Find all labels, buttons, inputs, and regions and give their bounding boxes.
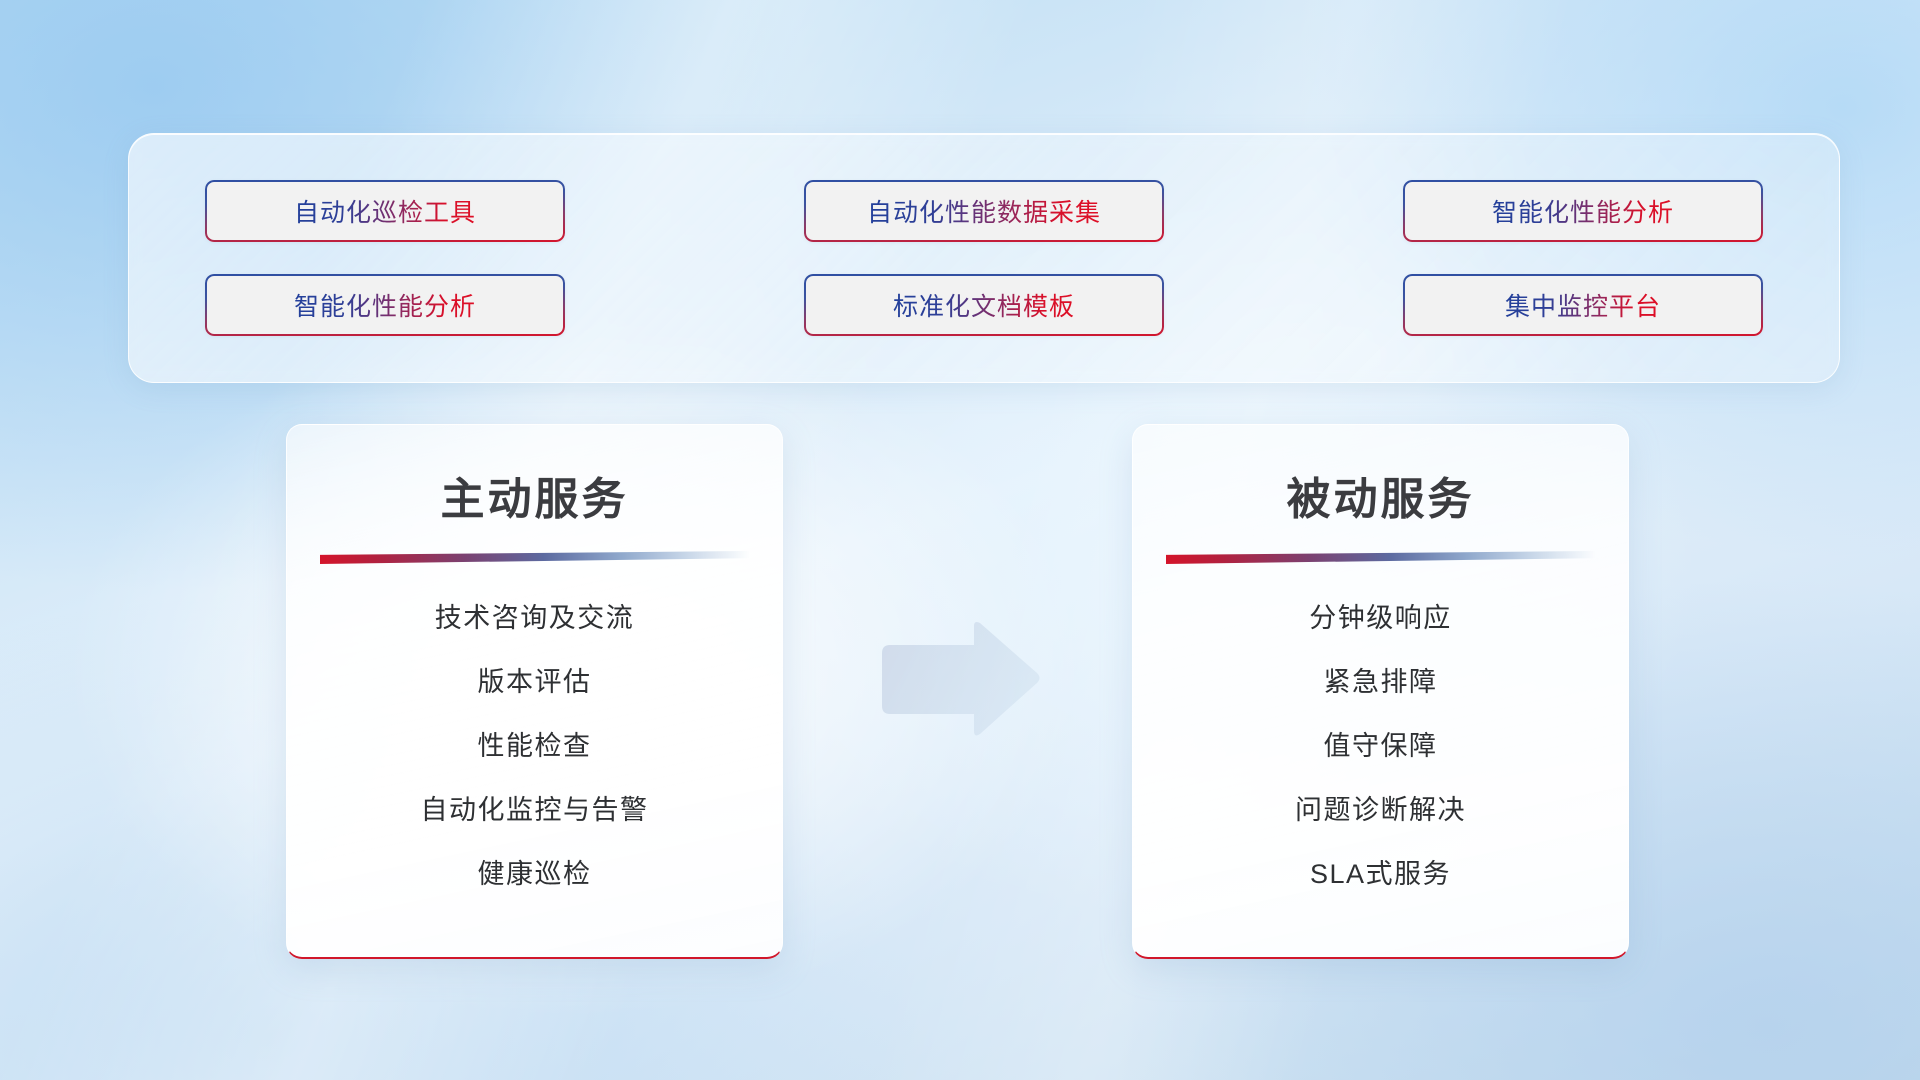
- tag-button-standardized-document-template[interactable]: 标准化文档模板: [804, 274, 1164, 336]
- card-title: 主动服务: [441, 463, 629, 527]
- list-item: 问题诊断解决: [1295, 788, 1466, 827]
- tag-button-label: 集中监控平台: [1505, 287, 1661, 323]
- tag-row-1: 自动化巡检工具 自动化性能数据采集 智能化性能分析: [205, 180, 1763, 242]
- list-item: 自动化监控与告警: [421, 788, 649, 827]
- tag-button-centralized-monitoring-platform[interactable]: 集中监控平台: [1403, 274, 1763, 336]
- capability-tag-panel: 自动化巡检工具 自动化性能数据采集 智能化性能分析 智能化性能分析 标准化文档模…: [128, 133, 1840, 383]
- card-item-list: 分钟级响应 紧急排障 值守保障 问题诊断解决 SLA式服务: [1133, 596, 1628, 891]
- list-item: 紧急排障: [1324, 660, 1438, 699]
- list-item: SLA式服务: [1310, 852, 1451, 891]
- arrow-right-icon: [874, 620, 1042, 740]
- service-card-reactive[interactable]: 被动服务 分钟级响应 紧急排障 值守保障 问题诊断解决 SLA式服务: [1132, 424, 1629, 959]
- tag-row-2: 智能化性能分析 标准化文档模板 集中监控平台: [205, 274, 1763, 336]
- tag-button-label: 智能化性能分析: [294, 287, 476, 323]
- tag-button-intelligent-performance-analysis-2[interactable]: 智能化性能分析: [205, 274, 565, 336]
- tag-button-label: 自动化性能数据采集: [867, 193, 1101, 229]
- tag-button-automated-inspection-tool[interactable]: 自动化巡检工具: [205, 180, 565, 242]
- list-item: 值守保障: [1324, 724, 1438, 763]
- service-card-proactive[interactable]: 主动服务 技术咨询及交流 版本评估 性能检查 自动化监控与告警 健康巡检: [286, 424, 783, 959]
- card-item-list: 技术咨询及交流 版本评估 性能检查 自动化监控与告警 健康巡检: [287, 596, 782, 891]
- card-title: 被动服务: [1287, 463, 1475, 527]
- card-divider: [1166, 551, 1596, 564]
- list-item: 分钟级响应: [1309, 596, 1452, 635]
- tag-button-label: 智能化性能分析: [1492, 193, 1674, 229]
- list-item: 技术咨询及交流: [435, 596, 635, 635]
- tag-button-automated-performance-data-collection[interactable]: 自动化性能数据采集: [804, 180, 1164, 242]
- tag-button-label: 标准化文档模板: [893, 287, 1075, 323]
- list-item: 健康巡检: [478, 852, 592, 891]
- tag-button-label: 自动化巡检工具: [294, 193, 476, 229]
- card-divider: [320, 551, 750, 564]
- tag-button-intelligent-performance-analysis[interactable]: 智能化性能分析: [1403, 180, 1763, 242]
- list-item: 性能检查: [478, 724, 592, 763]
- slide-canvas: 自动化巡检工具 自动化性能数据采集 智能化性能分析 智能化性能分析 标准化文档模…: [0, 0, 1920, 1080]
- list-item: 版本评估: [478, 660, 592, 699]
